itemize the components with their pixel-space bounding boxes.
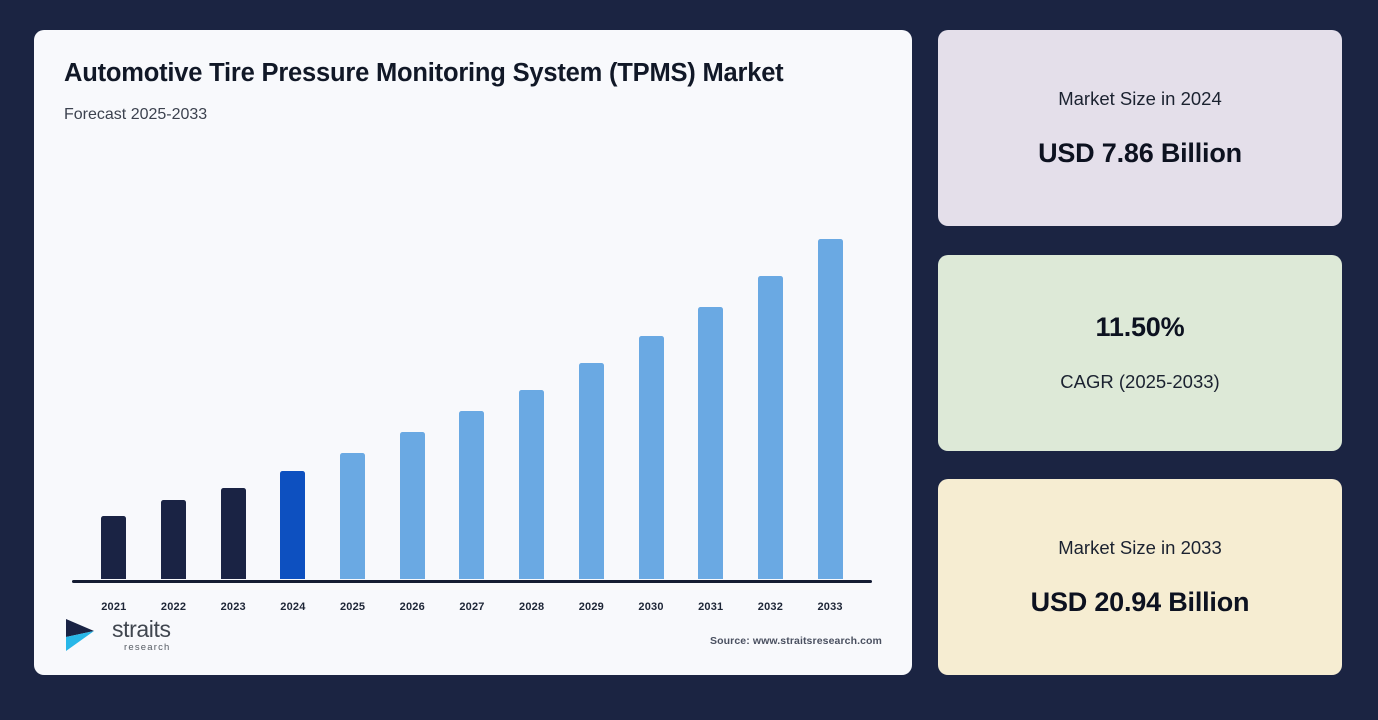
bar-2024[interactable] — [280, 471, 305, 579]
x-tick-2026: 2026 — [382, 601, 442, 613]
logo-subtitle: research — [124, 643, 171, 653]
bar-2023[interactable] — [221, 488, 246, 579]
logo-wordmark: straits — [112, 618, 171, 641]
bar-2029[interactable] — [579, 363, 604, 579]
bar-2026[interactable] — [400, 432, 425, 579]
bar-slot-2027 — [442, 239, 502, 579]
bar-2021[interactable] — [101, 516, 126, 579]
bar-slot-2024 — [263, 239, 323, 579]
bar-slot-2032 — [741, 239, 801, 579]
x-tick-2023: 2023 — [203, 601, 263, 613]
source-attribution: Source: www.straitsresearch.com — [710, 635, 882, 653]
x-tick-2027: 2027 — [442, 601, 502, 613]
bar-slot-2023 — [203, 239, 263, 579]
kpi-card-3: Market Size in 2033USD 20.94 Billion — [938, 479, 1342, 675]
x-tick-2024: 2024 — [263, 601, 323, 613]
x-tick-2030: 2030 — [621, 601, 681, 613]
chart-subtitle: Forecast 2025-2033 — [64, 106, 882, 124]
x-tick-2032: 2032 — [741, 601, 801, 613]
bar-slot-2026 — [382, 239, 442, 579]
kpi-card-column: Market Size in 2024USD 7.86 Billion11.50… — [938, 30, 1342, 675]
x-tick-2025: 2025 — [323, 601, 383, 613]
chart-panel: Automotive Tire Pressure Monitoring Syst… — [34, 30, 912, 675]
kpi-label: Market Size in 2024 — [1058, 88, 1222, 110]
bar-2032[interactable] — [758, 276, 783, 579]
logo-arrow-icon — [64, 617, 104, 653]
logo-text: straits research — [112, 618, 171, 653]
kpi-value: USD 7.86 Billion — [1038, 138, 1242, 169]
bar-2028[interactable] — [519, 390, 544, 579]
kpi-value: USD 20.94 Billion — [1031, 587, 1250, 618]
bar-slot-2021 — [84, 239, 144, 579]
chart-footer: straits research Source: www.straitsrese… — [64, 617, 882, 653]
bar-slot-2029 — [562, 239, 622, 579]
kpi-label: Market Size in 2033 — [1058, 537, 1222, 559]
bar-2033[interactable] — [818, 239, 843, 579]
x-tick-2021: 2021 — [84, 601, 144, 613]
bar-slot-2022 — [144, 239, 204, 579]
bar-2025[interactable] — [340, 453, 365, 579]
bar-2027[interactable] — [459, 411, 484, 579]
x-tick-2029: 2029 — [562, 601, 622, 613]
bar-2030[interactable] — [639, 336, 664, 579]
x-tick-2033: 2033 — [800, 601, 860, 613]
bar-slot-2030 — [621, 239, 681, 579]
x-axis-tick-labels: 2021202220232024202520262027202820292030… — [84, 601, 860, 613]
bar-slot-2028 — [502, 239, 562, 579]
x-tick-2022: 2022 — [144, 601, 204, 613]
bar-2031[interactable] — [698, 307, 723, 579]
page-title: Automotive Tire Pressure Monitoring Syst… — [64, 58, 854, 89]
kpi-card-2: 11.50%CAGR (2025-2033) — [938, 255, 1342, 451]
bar-series — [84, 239, 860, 579]
kpi-label: CAGR (2025-2033) — [1060, 371, 1219, 393]
bar-slot-2031 — [681, 239, 741, 579]
x-tick-2028: 2028 — [502, 601, 562, 613]
kpi-card-1: Market Size in 2024USD 7.86 Billion — [938, 30, 1342, 226]
x-axis-line — [72, 580, 872, 583]
bar-slot-2033 — [800, 239, 860, 579]
bar-slot-2025 — [323, 239, 383, 579]
plot-area: 2021202220232024202520262027202820292030… — [64, 138, 882, 657]
straits-research-logo: straits research — [64, 617, 171, 653]
infographic-root: Automotive Tire Pressure Monitoring Syst… — [0, 0, 1378, 720]
x-tick-2031: 2031 — [681, 601, 741, 613]
bar-2022[interactable] — [161, 500, 186, 579]
kpi-value: 11.50% — [1096, 312, 1185, 343]
